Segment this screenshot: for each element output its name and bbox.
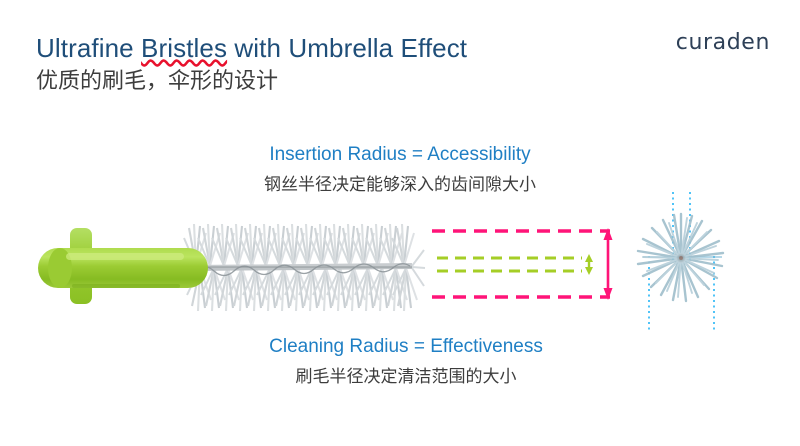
insertion-radius-marker [437,254,593,275]
title-prefix: Ultrafine [36,33,141,63]
brush-wire-core [193,264,412,276]
brand-logo: curaden [676,30,770,55]
callout-cleaning-radius: Cleaning Radius = Effectiveness 刷毛半径决定清洁… [196,335,616,390]
page-title: Ultrafine Bristles with Umbrella Effect [36,33,636,64]
callout-heading-en: Insertion Radius = Accessibility [190,143,610,167]
callout-insertion-radius: Insertion Radius = Accessibility 钢丝半径决定能… [190,143,610,198]
callout-heading-en: Cleaning Radius = Effectiveness [196,335,616,359]
title-misspelled-word: Bristles [141,33,227,63]
title-suffix: with Umbrella Effect [227,33,467,63]
brush-cross-section [638,214,723,301]
cross-section-guide-lines [643,192,722,330]
page-subtitle-cn: 优质的刷毛，伞形的设计 [36,67,636,97]
callout-heading-cn: 刷毛半径决定清洁范围的大小 [196,364,616,390]
title-block: Ultrafine Bristles with Umbrella Effect … [36,33,636,97]
brush-bristles [184,224,425,311]
callout-heading-cn: 钢丝半径决定能够深入的齿间隙大小 [190,172,610,198]
brush-handle [38,228,208,304]
slide-canvas: Ultrafine Bristles with Umbrella Effect … [0,0,800,446]
cleaning-radius-marker [432,228,613,300]
